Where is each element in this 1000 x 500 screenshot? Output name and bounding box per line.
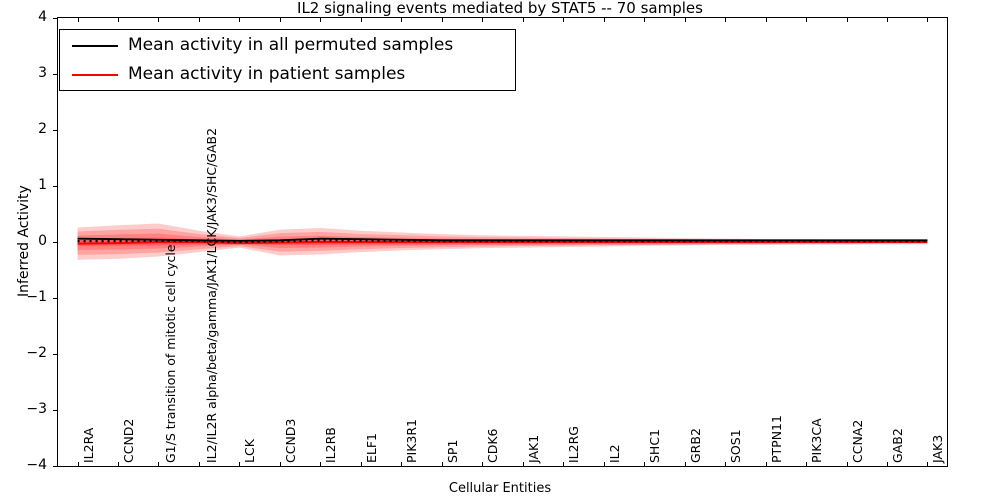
- x-tick-label: GRB2: [690, 428, 702, 463]
- y-tick-label: −3: [7, 401, 47, 417]
- x-tick-mark: [685, 462, 686, 466]
- x-tick-label: IL2/IL2R alpha/beta/gamma/JAK1/LCK/JAK3/…: [204, 128, 219, 463]
- y-tick-label: 4: [7, 9, 47, 25]
- x-tick-mark-top: [766, 18, 767, 22]
- x-tick-mark: [806, 462, 807, 466]
- x-tick-label: G1/S transition of mitotic cell cycle: [163, 244, 178, 463]
- x-tick-label: IL2RG: [568, 426, 580, 463]
- x-tick-mark: [563, 462, 564, 466]
- x-tick-mark-top: [847, 18, 848, 22]
- x-tick-label: CCNA2: [852, 420, 864, 463]
- x-tick-mark-top: [442, 18, 443, 22]
- x-tick-label: CDK6: [487, 428, 499, 463]
- y-axis-label: Inferred Activity: [16, 185, 32, 297]
- chart-legend: Mean activity in all permuted samples Me…: [59, 29, 516, 91]
- x-tick-mark: [927, 462, 928, 466]
- x-tick-mark: [523, 462, 524, 466]
- x-tick-mark-top: [199, 18, 200, 22]
- legend-label-permuted: Mean activity in all permuted samples: [128, 35, 453, 55]
- x-tick-mark: [725, 462, 726, 466]
- x-tick-label: CCND3: [285, 419, 297, 463]
- x-tick-label: CCND2: [123, 419, 135, 463]
- x-tick-label: IL2: [609, 444, 621, 463]
- x-tick-mark: [158, 462, 159, 466]
- x-tick-mark-top: [118, 18, 119, 22]
- x-axis-label: Cellular Entities: [0, 481, 1000, 496]
- y-tick-mark: [53, 354, 57, 355]
- x-tick-mark-top: [927, 18, 928, 22]
- x-tick-mark: [847, 462, 848, 466]
- x-tick-mark: [401, 462, 402, 466]
- y-tick-mark: [53, 466, 57, 467]
- y-tick-mark: [53, 242, 57, 243]
- x-tick-label: GAB2: [892, 428, 904, 463]
- x-tick-mark-top: [604, 18, 605, 22]
- x-tick-label: IL2RB: [325, 427, 337, 463]
- x-tick-mark-top: [401, 18, 402, 22]
- y-tick-mark: [53, 18, 57, 19]
- figure-canvas: IL2 signaling events mediated by STAT5 -…: [0, 0, 1000, 500]
- x-tick-mark: [361, 462, 362, 466]
- y-tick-mark: [53, 410, 57, 411]
- y-tick-label: −2: [7, 345, 47, 361]
- x-tick-label: PTPN11: [771, 415, 783, 463]
- x-tick-mark: [118, 462, 119, 466]
- x-tick-mark-top: [158, 18, 159, 22]
- x-tick-mark: [766, 462, 767, 466]
- x-tick-mark: [442, 462, 443, 466]
- y-tick-mark: [53, 130, 57, 131]
- x-tick-label: IL2RA: [83, 428, 95, 463]
- x-tick-label: PIK3CA: [811, 418, 823, 463]
- x-tick-mark-top: [78, 18, 79, 22]
- x-tick-mark-top: [563, 18, 564, 22]
- x-tick-mark: [604, 462, 605, 466]
- x-tick-label: SHC1: [649, 429, 661, 463]
- y-tick-label: 3: [7, 65, 47, 81]
- y-tick-mark: [53, 186, 57, 187]
- legend-entry-permuted: Mean activity in all permuted samples: [60, 32, 515, 60]
- x-tick-mark-top: [523, 18, 524, 22]
- legend-entry-patient: Mean activity in patient samples: [60, 61, 515, 89]
- x-tick-mark: [280, 462, 281, 466]
- x-tick-label: JAK3: [932, 435, 944, 463]
- x-tick-mark: [199, 462, 200, 466]
- x-tick-mark-top: [685, 18, 686, 22]
- x-tick-label: SOS1: [730, 429, 742, 463]
- x-tick-label: SP1: [447, 440, 459, 463]
- x-tick-mark: [482, 462, 483, 466]
- x-tick-mark: [320, 462, 321, 466]
- x-tick-mark: [239, 462, 240, 466]
- x-tick-mark-top: [239, 18, 240, 22]
- legend-swatch-permuted: [72, 45, 118, 47]
- x-tick-mark: [887, 462, 888, 466]
- x-tick-label: ELF1: [366, 433, 378, 463]
- x-tick-mark: [78, 462, 79, 466]
- x-tick-mark-top: [361, 18, 362, 22]
- y-tick-label: −4: [7, 457, 47, 473]
- x-tick-mark-top: [280, 18, 281, 22]
- x-tick-label: LCK: [244, 439, 256, 463]
- x-tick-mark-top: [482, 18, 483, 22]
- y-tick-mark: [53, 74, 57, 75]
- x-tick-mark-top: [806, 18, 807, 22]
- x-tick-mark: [644, 462, 645, 466]
- y-tick-mark: [53, 298, 57, 299]
- legend-swatch-patient: [72, 74, 118, 76]
- x-tick-label: JAK1: [528, 435, 540, 463]
- legend-label-patient: Mean activity in patient samples: [128, 64, 405, 84]
- x-tick-mark-top: [644, 18, 645, 22]
- x-tick-mark-top: [887, 18, 888, 22]
- x-tick-label: PIK3R1: [406, 419, 418, 463]
- y-tick-label: 2: [7, 121, 47, 137]
- chart-title: IL2 signaling events mediated by STAT5 -…: [0, 0, 1000, 17]
- x-tick-mark-top: [725, 18, 726, 22]
- x-tick-mark-top: [320, 18, 321, 22]
